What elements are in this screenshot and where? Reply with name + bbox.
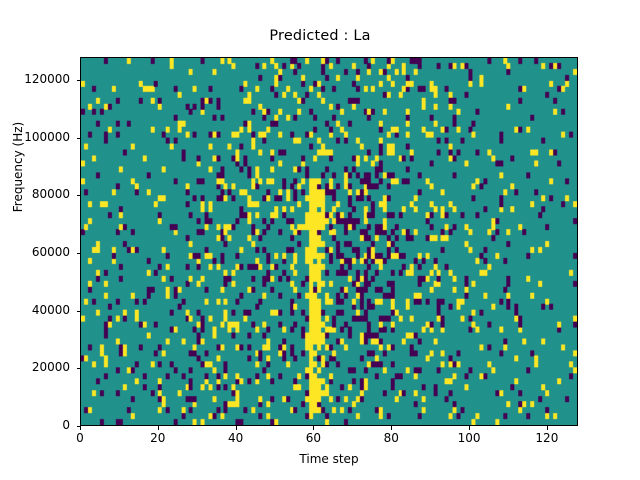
x-tick-label: 60 [283,431,343,445]
matplotlib-figure: Predicted : La 020406080100120 020000400… [0,0,640,480]
x-tick-label: 0 [50,431,110,445]
x-tick-label: 40 [206,431,266,445]
heatmap-axes [80,57,578,426]
x-axis-label: Time step [80,452,578,466]
x-tick-label: 80 [361,431,421,445]
x-tick-mark [158,426,159,430]
y-tick-label: 60000 [0,245,70,259]
y-tick-label: 20000 [0,360,70,374]
y-tick-mark [77,80,81,81]
x-tick-label: 20 [128,431,188,445]
x-tick-label: 120 [517,431,577,445]
y-tick-label: 120000 [0,72,70,86]
x-tick-label: 100 [439,431,499,445]
y-tick-mark [77,195,81,196]
y-tick-label: 40000 [0,303,70,317]
y-axis-label: Frequency (Hz) [11,87,25,247]
x-tick-mark [80,426,81,430]
y-tick-label: 0 [0,418,70,432]
x-tick-mark [313,426,314,430]
x-tick-mark [469,426,470,430]
x-tick-mark [236,426,237,430]
chart-title: Predicted : La [0,28,640,44]
x-tick-mark [391,426,392,430]
y-tick-mark [77,426,81,427]
heatmap-image [81,58,577,425]
y-tick-mark [77,311,81,312]
x-tick-mark [547,426,548,430]
y-tick-mark [77,368,81,369]
y-tick-mark [77,138,81,139]
y-tick-mark [77,253,81,254]
